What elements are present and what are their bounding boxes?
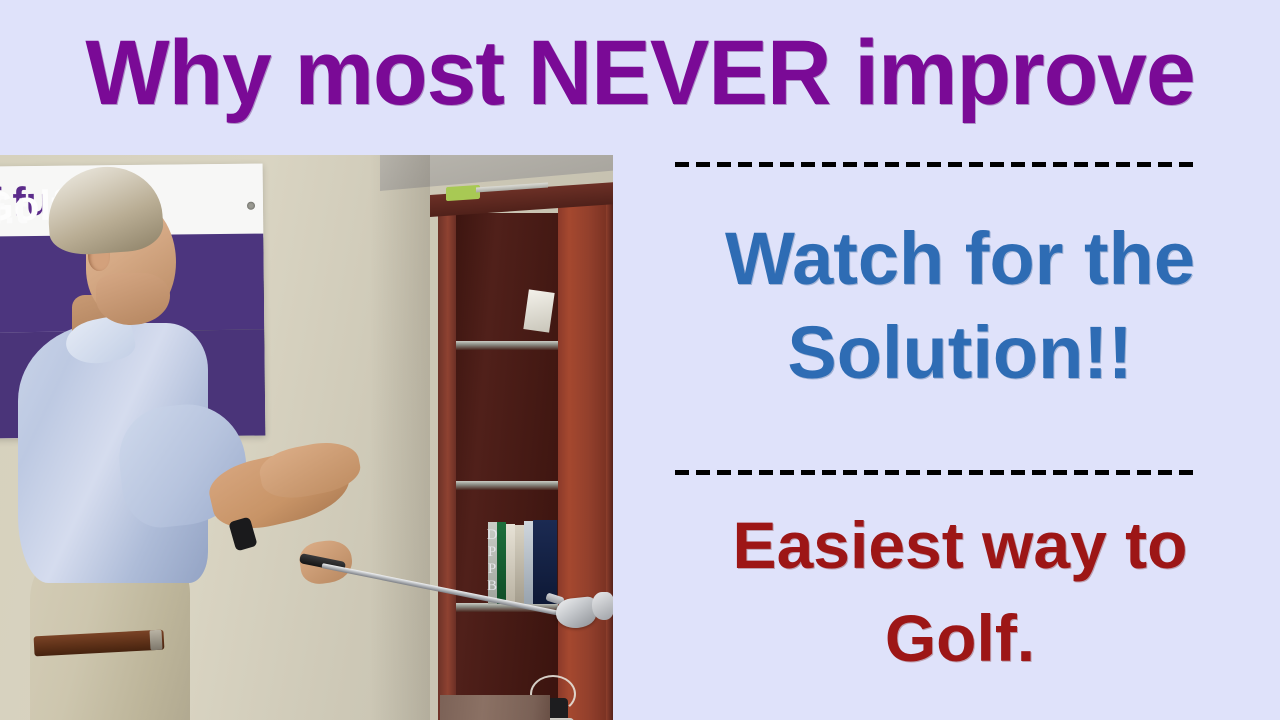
golfer-forearm	[256, 436, 364, 504]
youtube-thumbnail: Why most NEVER improve lf fu in! Golf lf…	[0, 0, 1280, 720]
text-panel: Watch for the Solution!! Easiest way to …	[640, 140, 1280, 720]
subtitle-line-1: Watch for the	[640, 222, 1280, 296]
golfer-jaw	[96, 273, 170, 325]
divider-middle	[675, 470, 1200, 475]
subtitle-line-4: Golf.	[640, 605, 1280, 671]
subtitle-line-2: Solution!!	[640, 316, 1280, 390]
golfer-photo: lf fu in! Golf lf.t	[0, 155, 613, 720]
golfer	[0, 155, 613, 720]
divider-top	[675, 162, 1200, 167]
belt-buckle	[149, 630, 162, 651]
club-head-toe	[592, 592, 613, 620]
golfer-hair	[45, 163, 165, 257]
page-title: Why most NEVER improve	[19, 14, 1261, 132]
subtitle-line-3: Easiest way to	[640, 512, 1280, 578]
